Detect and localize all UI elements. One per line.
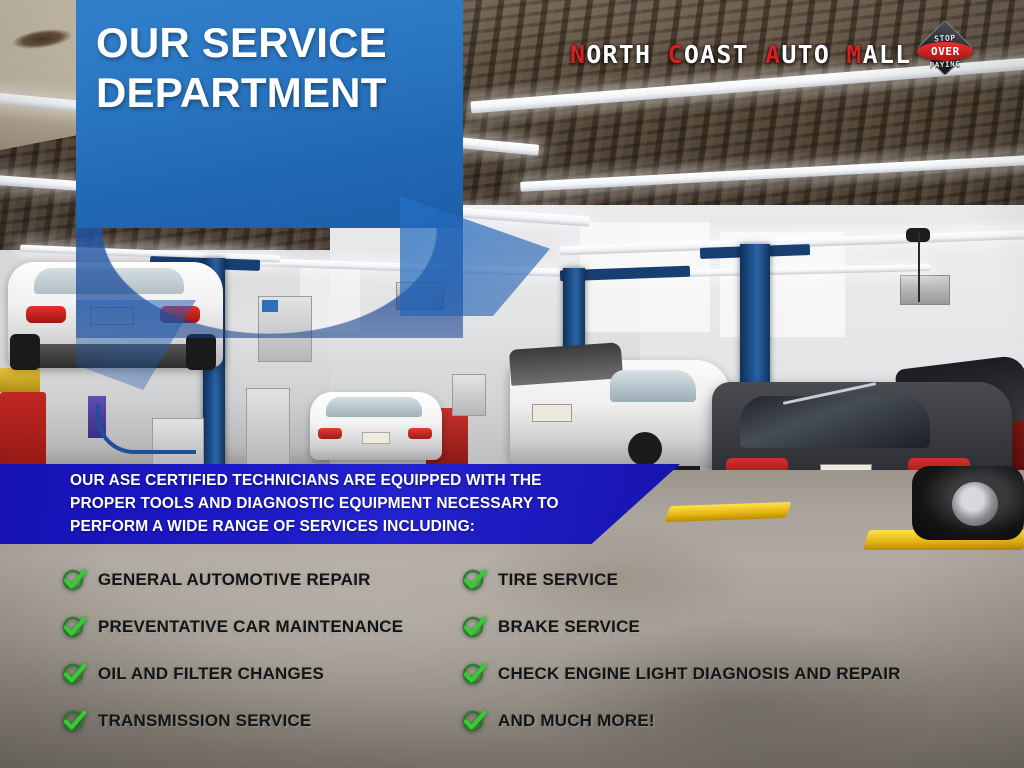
hanging-cord bbox=[918, 232, 920, 302]
list-item: TRANSMISSION SERVICE bbox=[62, 697, 403, 744]
list-item: GENERAL AUTOMOTIVE REPAIR bbox=[62, 556, 403, 603]
services-left-column: GENERAL AUTOMOTIVE REPAIR PREVENTATIVE C… bbox=[62, 556, 403, 744]
brand-logo-text: NORTH COAST AUTO MALL bbox=[570, 40, 911, 69]
statement-banner-text: OUR ASE CERTIFIED TECHNICIANS ARE EQUIPP… bbox=[70, 470, 610, 538]
shop-cabinet bbox=[246, 388, 290, 466]
air-hose bbox=[96, 404, 196, 454]
hvac-vent bbox=[900, 275, 950, 305]
list-item: TIRE SERVICE bbox=[462, 556, 901, 603]
service-label: CHECK ENGINE LIGHT DIAGNOSIS AND REPAIR bbox=[498, 664, 901, 684]
list-item: BRAKE SERVICE bbox=[462, 603, 901, 650]
service-label: BRAKE SERVICE bbox=[498, 617, 640, 637]
banner-line-1: OUR ASE CERTIFIED TECHNICIANS ARE EQUIPP… bbox=[70, 470, 610, 493]
logo-rest-north: ORTH bbox=[586, 40, 651, 69]
brand-logo[interactable]: NORTH COAST AUTO MALL STOP OVER PAYING bbox=[570, 28, 973, 80]
check-icon bbox=[462, 661, 488, 687]
badge-bottom-text: PAYING bbox=[917, 59, 973, 71]
logo-cap-c: C bbox=[668, 40, 684, 69]
check-icon bbox=[462, 567, 488, 593]
badge-mid-text: OVER bbox=[931, 45, 960, 58]
check-icon bbox=[462, 708, 488, 734]
check-icon bbox=[62, 567, 88, 593]
logo-rest-coast: OAST bbox=[684, 40, 749, 69]
white-suv bbox=[510, 360, 730, 466]
page-title: OUR SERVICE DEPARTMENT bbox=[96, 18, 446, 117]
service-label: PREVENTATIVE CAR MAINTENANCE bbox=[98, 617, 403, 637]
services-list: GENERAL AUTOMOTIVE REPAIR PREVENTATIVE C… bbox=[0, 556, 1024, 746]
service-label: TRANSMISSION SERVICE bbox=[98, 711, 311, 731]
check-icon bbox=[62, 661, 88, 687]
list-item: CHECK ENGINE LIGHT DIAGNOSIS AND REPAIR bbox=[462, 650, 901, 697]
service-label: TIRE SERVICE bbox=[498, 570, 618, 590]
logo-rest-auto: UTO bbox=[781, 40, 830, 69]
wall-blemish bbox=[11, 26, 73, 52]
service-department-poster: OUR SERVICE DEPARTMENT NORTH COAST AUTO … bbox=[0, 0, 1024, 768]
list-item: AND MUCH MORE! bbox=[462, 697, 901, 744]
list-item: PREVENTATIVE CAR MAINTENANCE bbox=[62, 603, 403, 650]
stop-over-paying-badge: STOP OVER PAYING bbox=[917, 24, 973, 80]
shop-cabinet bbox=[452, 374, 486, 416]
service-label: AND MUCH MORE! bbox=[498, 711, 655, 731]
title-line-1: OUR SERVICE bbox=[96, 18, 446, 68]
check-icon bbox=[62, 708, 88, 734]
banner-line-3: PERFORM A WIDE RANGE OF SERVICES INCLUDI… bbox=[70, 516, 610, 539]
service-label: GENERAL AUTOMOTIVE REPAIR bbox=[98, 570, 371, 590]
title-line-2: DEPARTMENT bbox=[96, 68, 446, 118]
logo-cap-m: M bbox=[846, 40, 862, 69]
service-label: OIL AND FILTER CHANGES bbox=[98, 664, 324, 684]
check-icon bbox=[462, 614, 488, 640]
yellow-cabinet bbox=[0, 368, 40, 392]
white-sedan-on-floor bbox=[310, 392, 442, 460]
banner-line-2: PROPER TOOLS AND DIAGNOSTIC EQUIPMENT NE… bbox=[70, 493, 610, 516]
services-right-column: TIRE SERVICE BRAKE SERVICE bbox=[462, 556, 901, 744]
wheel-rim bbox=[952, 482, 998, 526]
logo-cap-n: N bbox=[570, 40, 586, 69]
list-item: OIL AND FILTER CHANGES bbox=[62, 650, 403, 697]
check-icon bbox=[62, 614, 88, 640]
logo-cap-a: A bbox=[765, 40, 781, 69]
logo-rest-mall: ALL bbox=[863, 40, 912, 69]
